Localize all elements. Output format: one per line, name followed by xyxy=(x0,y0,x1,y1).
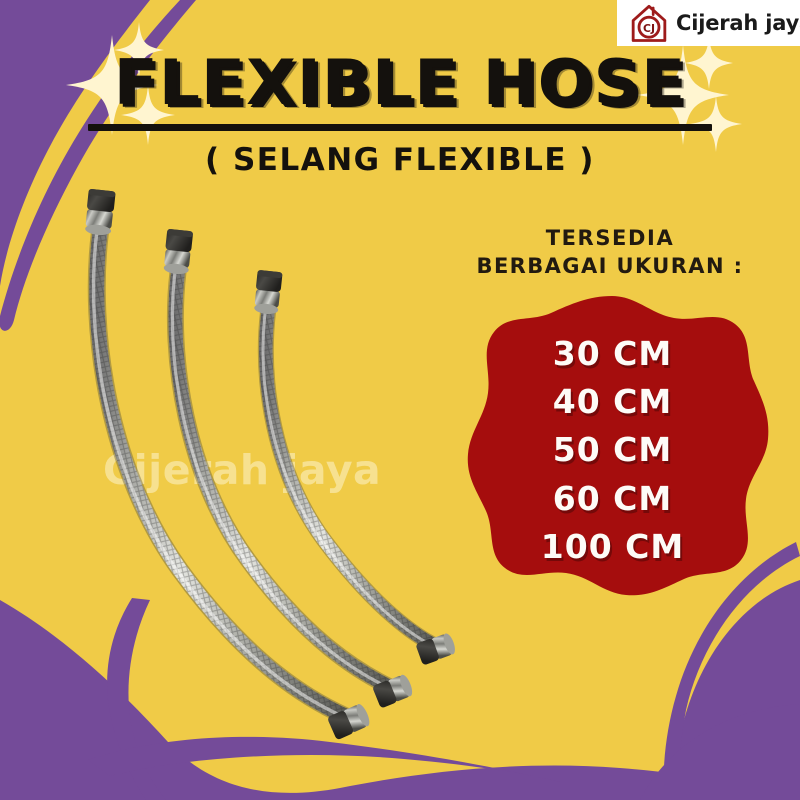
scalloped-badge-shape xyxy=(455,293,770,608)
brand-bar: CJ Cijerah jaya xyxy=(617,0,800,46)
house-logo-icon: CJ xyxy=(629,3,669,43)
title-divider xyxy=(88,124,712,131)
size-badge: 30 CM 40 CM 50 CM 60 CM 100 CM xyxy=(455,293,770,608)
poster-canvas: CJ Cijerah jaya FLEXIBLE HOSE ( SELANG F… xyxy=(0,0,800,800)
availability-heading: TERSEDIA BERBAGAI UKURAN : xyxy=(430,224,790,281)
title-block: FLEXIBLE HOSE xyxy=(0,52,800,114)
page-title: FLEXIBLE HOSE xyxy=(0,52,800,114)
brand-name: Cijerah jaya xyxy=(676,13,800,34)
svg-text:CJ: CJ xyxy=(643,22,655,35)
page-subtitle: ( SELANG FLEXIBLE ) xyxy=(0,142,800,178)
availability-line-2: BERBAGAI UKURAN : xyxy=(430,252,790,280)
availability-line-1: TERSEDIA xyxy=(430,224,790,252)
